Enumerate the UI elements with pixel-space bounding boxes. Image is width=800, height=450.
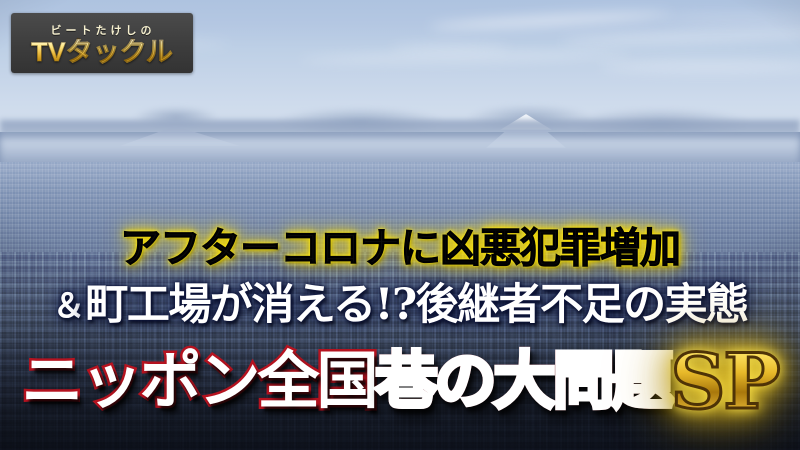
- cloud: [390, 44, 510, 51]
- cityscape: [0, 162, 800, 450]
- tv-broadcast-screen: ビートたけしの TVタックル アフターコロナに凶悪犯罪増加 ＆町工場が消える!?…: [0, 0, 800, 450]
- program-logo-subtitle: ビートたけしの: [51, 22, 156, 38]
- city-buildings-texture: [0, 252, 800, 450]
- program-logo-title: TVタックル: [31, 39, 173, 66]
- program-logo: ビートたけしの TVタックル: [11, 13, 193, 73]
